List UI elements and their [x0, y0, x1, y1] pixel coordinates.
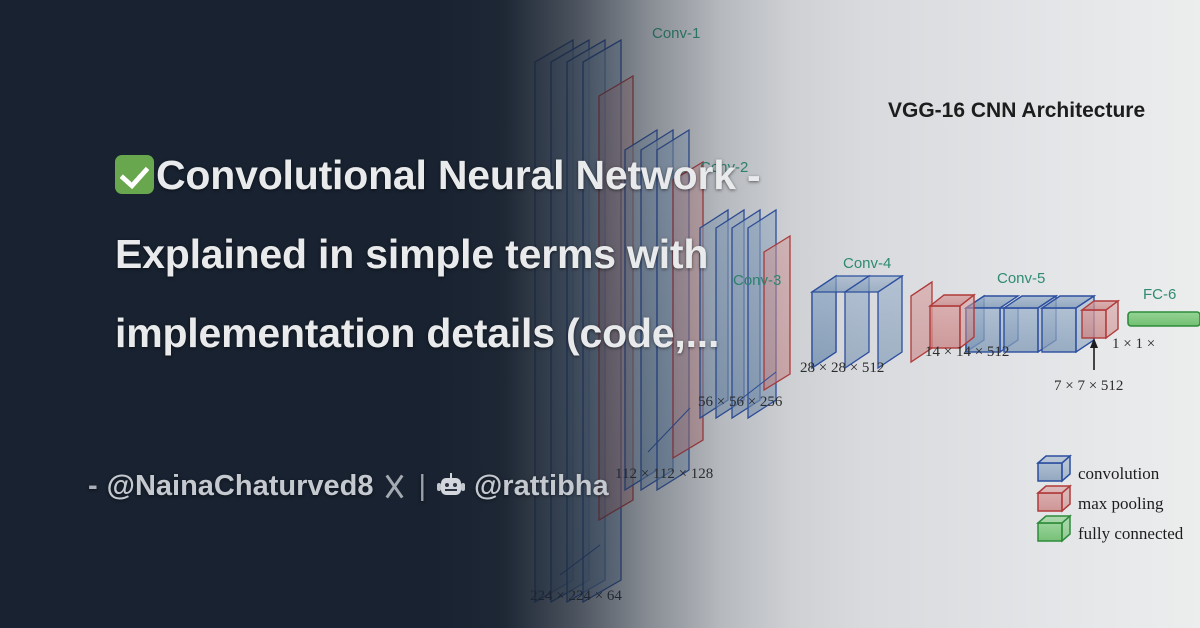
attribution-line: - @NainaChaturved8 | @rattibha [88, 470, 609, 503]
title-line-3: implementation details (code,... [115, 294, 1125, 373]
source-handle[interactable]: @rattibha [474, 470, 609, 503]
card-content: Convolutional Neural Network - Explained… [0, 0, 1200, 628]
attribution-separator: | [416, 470, 428, 503]
title-line-1-text: Convolutional Neural Network - [156, 152, 761, 198]
check-mark-button-icon [115, 155, 154, 194]
page-title: Convolutional Neural Network - Explained… [115, 136, 1125, 373]
robot-icon [437, 475, 465, 499]
attribution-dash: - [88, 470, 98, 503]
social-preview-card: VGG-16 CNN Architecture Conv-1 224 × 224… [0, 0, 1200, 628]
x-twitter-icon [382, 474, 407, 499]
title-line-2: Explained in simple terms with [115, 215, 1125, 294]
author-handle[interactable]: @NainaChaturved8 [107, 470, 374, 503]
title-line-1: Convolutional Neural Network - [115, 136, 1125, 215]
